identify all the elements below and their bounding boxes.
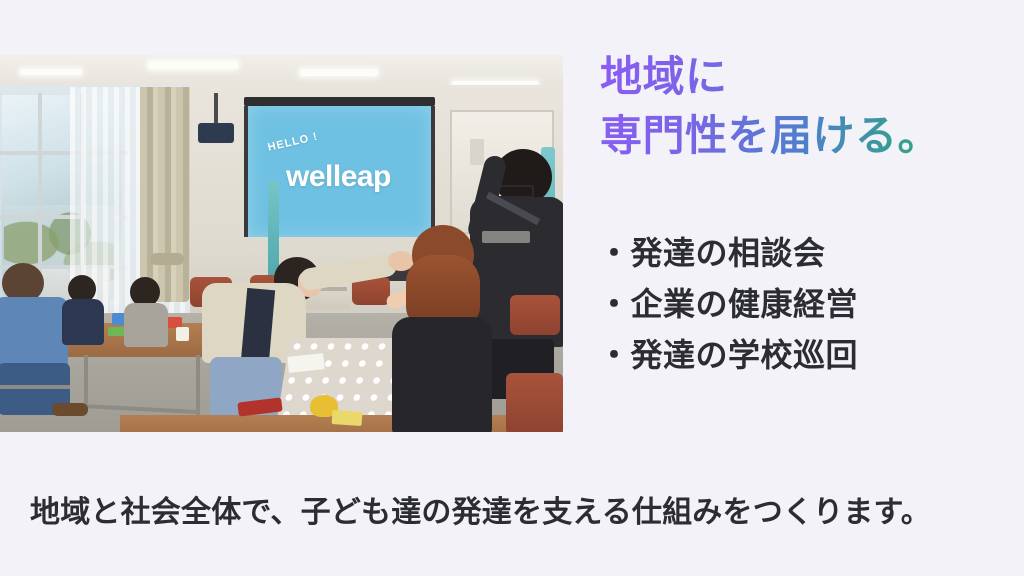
photo-drape-curtain bbox=[140, 87, 190, 302]
list-item: ・発達の学校巡回 bbox=[598, 330, 998, 381]
screen-logo-text: welleap bbox=[286, 160, 391, 194]
photo-chair-right-2 bbox=[506, 373, 563, 432]
photo-table-left-leg-1 bbox=[84, 355, 88, 410]
photo-projector-mount bbox=[214, 93, 218, 125]
photo-child-1-torso bbox=[62, 299, 104, 345]
event-photo: HELLO ! welleap bbox=[0, 55, 563, 432]
list-item: ・企業の健康経営 bbox=[598, 279, 998, 330]
list-item: ・発達の相談会 bbox=[598, 228, 998, 279]
photo-curtain-tieback bbox=[150, 253, 184, 265]
headline-line-1: 地域に bbox=[600, 48, 1000, 107]
ceiling-light-2 bbox=[148, 61, 238, 69]
photo-person-filming-phone bbox=[470, 139, 484, 165]
service-list: ・発達の相談会 ・企業の健康経営 ・発達の学校巡回 bbox=[598, 228, 998, 382]
ceiling-light-1 bbox=[20, 69, 82, 75]
photo-projector bbox=[198, 123, 234, 143]
photo-person-front bbox=[392, 225, 492, 425]
photo-chair-left-frame bbox=[0, 385, 70, 389]
photo-chair-right-1 bbox=[510, 295, 560, 335]
photo-toy-cup bbox=[176, 327, 189, 341]
photo-child-2-torso bbox=[124, 303, 168, 347]
slide-canvas: HELLO ! welleap bbox=[0, 0, 1024, 576]
footer-caption: 地域と社会全体で、子ども達の発達を支える仕組みをつくります。 bbox=[30, 487, 1005, 531]
photo-child-2 bbox=[124, 277, 170, 345]
page-title: 地域に 専門性を届ける。 bbox=[600, 48, 1000, 166]
photo-adult-seated-shoe bbox=[52, 403, 88, 416]
ceiling-light-3 bbox=[300, 69, 378, 76]
photo-child-1 bbox=[62, 275, 106, 345]
photo-adult-seated-torso bbox=[0, 297, 68, 369]
projector-screen-frame bbox=[244, 97, 435, 106]
photo-person-front-torso bbox=[392, 317, 492, 432]
headline-line-2: 専門性を届ける。 bbox=[600, 107, 1000, 166]
photo-yellow-card bbox=[332, 410, 363, 426]
screen-greeting-text: HELLO ! bbox=[267, 131, 319, 154]
